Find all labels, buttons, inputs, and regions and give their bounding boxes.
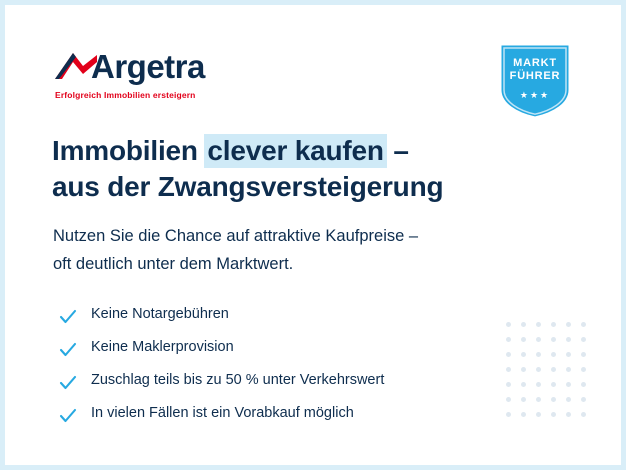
list-item-label: Keine Notargebühren bbox=[91, 306, 229, 322]
argetra-logo[interactable]: Argetra Erfolgreich Immobilien ersteiger… bbox=[53, 47, 273, 109]
check-icon bbox=[59, 306, 77, 324]
list-item: In vielen Fällen ist ein Vorabkauf mögli… bbox=[56, 397, 556, 430]
argetra-wordmark: Argetra bbox=[91, 47, 205, 87]
list-item: Zuschlag teils bis zu 50 % unter Verkehr… bbox=[56, 364, 556, 397]
benefits-list: Keine Notargebühren Keine Maklerprovisio… bbox=[56, 298, 556, 430]
promo-banner: Argetra Erfolgreich Immobilien ersteiger… bbox=[0, 0, 626, 470]
list-item: Keine Notargebühren bbox=[56, 298, 556, 331]
dot-row bbox=[506, 359, 602, 374]
list-item-label: Keine Maklerprovision bbox=[91, 339, 234, 355]
dot-row bbox=[506, 404, 602, 419]
headline-highlight: clever kaufen bbox=[204, 134, 386, 168]
headline-line-2: aus der Zwangsversteigerung bbox=[52, 169, 552, 205]
dot-row bbox=[506, 344, 602, 359]
argetra-tagline: Erfolgreich Immobilien ersteigern bbox=[55, 90, 196, 100]
list-item: Keine Maklerprovision bbox=[56, 331, 556, 364]
list-item-label: In vielen Fällen ist ein Vorabkauf mögli… bbox=[91, 405, 354, 421]
dot-row bbox=[506, 329, 602, 344]
page-title: Immobilien clever kaufen – aus der Zwang… bbox=[52, 133, 552, 205]
dot-row bbox=[506, 314, 602, 329]
badge-text: MARKT FÜHRER bbox=[496, 57, 574, 83]
check-icon bbox=[59, 405, 77, 423]
dot-row bbox=[506, 374, 602, 389]
dot-grid-decoration bbox=[506, 314, 602, 434]
dot-row bbox=[506, 389, 602, 404]
subheading-line-1: Nutzen Sie die Chance auf attraktive Kau… bbox=[53, 222, 573, 250]
check-icon bbox=[59, 372, 77, 390]
list-item-label: Zuschlag teils bis zu 50 % unter Verkehr… bbox=[91, 372, 384, 388]
badge-stars: ★★★ bbox=[496, 90, 574, 101]
marktfuehrer-badge: MARKT FÜHRER ★★★ bbox=[496, 38, 574, 122]
headline-line-1: Immobilien clever kaufen – bbox=[52, 133, 552, 169]
subheading: Nutzen Sie die Chance auf attraktive Kau… bbox=[53, 222, 573, 278]
headline-post: – bbox=[386, 135, 409, 166]
check-icon bbox=[59, 339, 77, 357]
badge-line1: MARKT bbox=[513, 57, 557, 69]
headline-pre: Immobilien bbox=[52, 135, 205, 166]
subheading-line-2: oft deutlich unter dem Marktwert. bbox=[53, 250, 573, 278]
badge-line2: FÜHRER bbox=[510, 70, 561, 82]
